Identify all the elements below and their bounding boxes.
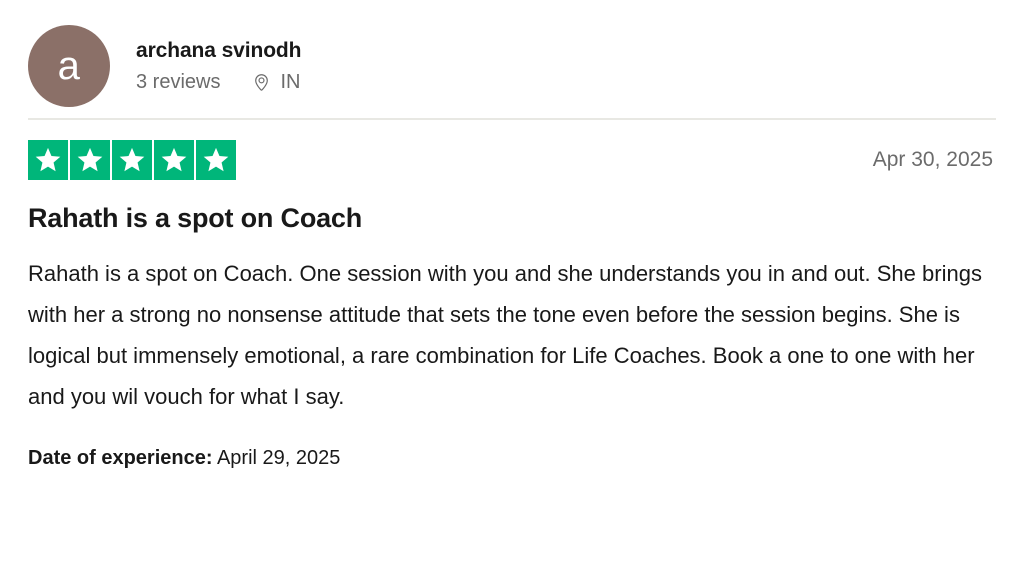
consumer-meta: 3 reviews IN <box>136 70 301 94</box>
date-of-experience-value: April 29, 2025 <box>217 447 340 469</box>
review-date: Apr 30, 2025 <box>873 147 996 172</box>
star-icon-1 <box>28 140 68 180</box>
consumer-name[interactable]: archana svinodh <box>136 38 301 63</box>
review-title[interactable]: Rahath is a spot on Coach <box>28 202 996 236</box>
consumer-header: a archana svinodh 3 reviews IN <box>28 0 996 118</box>
review-text: Rahath is a spot on Coach. One session w… <box>28 253 996 417</box>
location-label: IN <box>280 70 300 94</box>
rating-row: Apr 30, 2025 <box>28 120 996 181</box>
location-pin-icon <box>252 73 271 92</box>
consumer-location: IN <box>252 70 300 94</box>
consumer-info: archana svinodh 3 reviews IN <box>136 38 301 94</box>
avatar[interactable]: a <box>28 25 110 107</box>
star-icon-3 <box>112 140 152 180</box>
avatar-initial: a <box>58 46 81 86</box>
date-of-experience-label: Date of experience: <box>28 447 213 469</box>
review-card: a archana svinodh 3 reviews IN <box>0 0 1024 563</box>
reviews-count: 3 reviews <box>136 70 220 94</box>
star-rating[interactable] <box>28 140 236 180</box>
date-of-experience: Date of experience: April 29, 2025 <box>28 445 996 471</box>
star-icon-2 <box>70 140 110 180</box>
star-icon-5 <box>196 140 236 180</box>
star-icon-4 <box>154 140 194 180</box>
